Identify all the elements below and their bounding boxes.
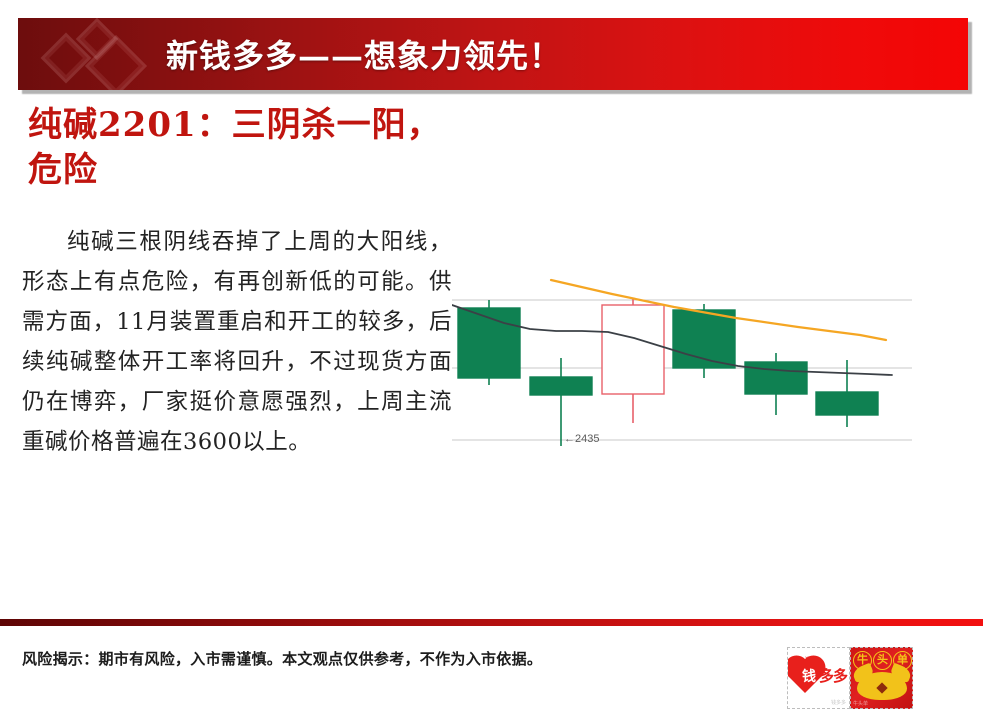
qianduoduo-heart-char: 钱 — [797, 670, 821, 684]
candle-body-up — [602, 305, 664, 394]
page-title: 纯碱2201：三阴杀一阳，危险 — [28, 103, 448, 193]
chart-canvas: ←2435 — [452, 268, 914, 458]
candle-body-down — [816, 392, 878, 415]
niutoudan-logo: 牛 头 单 牛头单 — [850, 647, 913, 709]
qianduoduo-logo: XIN 钱 多多 钱多多 — [787, 647, 850, 709]
candle-body-down — [530, 377, 592, 395]
qianduoduo-wordmark: 多多 — [819, 669, 847, 684]
banner-title: 新钱多多——想象力领先！ — [166, 31, 562, 77]
header-banner: 新钱多多——想象力领先！ — [18, 18, 968, 90]
candle-body-down — [745, 362, 807, 394]
footer-divider — [0, 619, 983, 626]
qianduoduo-corner-mark: 钱多多 — [831, 699, 846, 706]
niutoudan-corner-mark: 牛头单 — [853, 700, 868, 707]
body-paragraph: 纯碱三根阴线吞掉了上周的大阳线，形态上有点危险，有再创新低的可能。供需方面，11… — [22, 222, 452, 462]
niutoudan-char-2: 头 — [873, 651, 892, 670]
risk-disclaimer: 风险揭示：期市有风险，入市需谨慎。本文观点仅供参考，不作为入市依据。 — [22, 648, 542, 669]
logo-group: XIN 钱 多多 钱多多 牛 头 单 牛头单 — [787, 647, 913, 709]
candlestick-chart: ←2435 — [452, 268, 914, 458]
chart-annotation: ←2435 — [564, 433, 599, 445]
banner-surface: 新钱多多——想象力领先！ — [18, 18, 968, 90]
